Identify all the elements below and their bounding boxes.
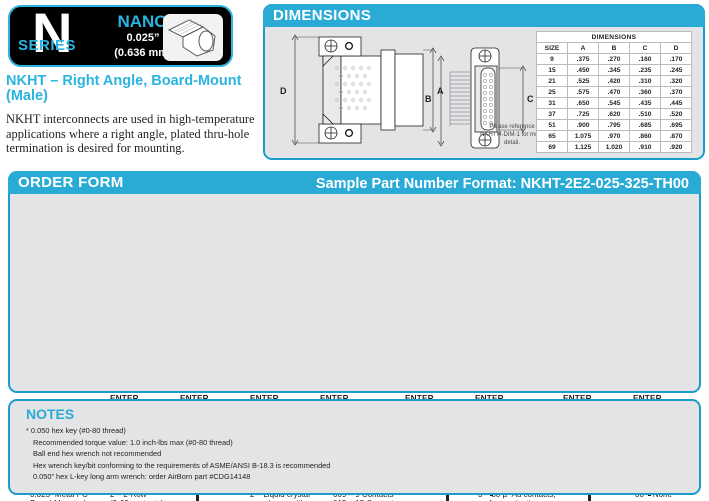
notes-list: * 0.050 hex key (#0-80 thread)Recommende… <box>26 425 330 483</box>
col-c: C <box>630 43 661 54</box>
table-row: 9.375.270.160.170 <box>537 54 692 65</box>
table-cell: .970 <box>599 131 630 142</box>
note-item: 0.050” hex L-key long arm wrench: order … <box>26 471 330 483</box>
table-cell: .525 <box>568 76 599 87</box>
table-cell: .470 <box>599 87 630 98</box>
table-cell: .445 <box>661 98 692 109</box>
table-cell: .620 <box>599 109 630 120</box>
table-row: 31.650.545.435.445 <box>537 98 692 109</box>
table-row: 21.525.420.310.320 <box>537 76 692 87</box>
order-form-panel: ORDER FORM Sample Part Number Format: NK… <box>8 171 701 393</box>
datasheet-page: N SERIES NANO 0.025” (0.636 mm) NKHT – R… <box>0 0 709 501</box>
table-cell: 25 <box>537 87 568 98</box>
product-badge: N SERIES NANO 0.025” (0.636 mm) <box>8 5 233 67</box>
table-cell: 37 <box>537 109 568 120</box>
nano-n-letter: N <box>32 5 70 64</box>
table-cell: .545 <box>599 98 630 109</box>
table-cell: 69 <box>537 142 568 153</box>
notes-heading: NOTES <box>26 406 74 422</box>
dim-label-b: B <box>425 94 432 104</box>
note-item: Ball end hex wrench not recommended <box>26 448 330 460</box>
table-cell: .870 <box>661 131 692 142</box>
table-cell: .860 <box>630 131 661 142</box>
product-description: NKHT interconnects are used in high-temp… <box>6 112 258 156</box>
table-row: 25.575.470.360.370 <box>537 87 692 98</box>
dimensions-table-header-row: SIZE A B C D <box>537 43 692 54</box>
table-cell: 1.125 <box>568 142 599 153</box>
table-cell: .510 <box>630 109 661 120</box>
table-cell: 51 <box>537 120 568 131</box>
table-cell: .320 <box>661 76 692 87</box>
page-title: NKHT – Right Angle, Board-Mount (Male) <box>6 74 256 104</box>
table-cell: 65 <box>537 131 568 142</box>
dim-label-a: A <box>437 86 444 96</box>
table-row: 37.725.620.510.520 <box>537 109 692 120</box>
notes-panel: NOTES * 0.050 hex key (#0-80 thread)Reco… <box>8 399 701 495</box>
table-cell: 9 <box>537 54 568 65</box>
table-cell: .375 <box>568 54 599 65</box>
table-cell: .650 <box>568 98 599 109</box>
table-cell: .725 <box>568 109 599 120</box>
table-cell: .270 <box>599 54 630 65</box>
table-cell: .170 <box>661 54 692 65</box>
dim-label-d: D <box>280 86 287 96</box>
col-d: D <box>661 43 692 54</box>
table-cell: .900 <box>568 120 599 131</box>
table-cell: .360 <box>630 87 661 98</box>
dimensions-heading: DIMENSIONS <box>263 4 705 27</box>
table-cell: 15 <box>537 65 568 76</box>
col-b: B <box>599 43 630 54</box>
table-row: 15.450.345.235.245 <box>537 65 692 76</box>
dimensions-table-title: DIMENSIONS <box>537 32 692 43</box>
note-item: Hex wrench key/bit conforming to the req… <box>26 460 330 472</box>
table-cell: 1.020 <box>599 142 630 153</box>
table-cell: .160 <box>630 54 661 65</box>
col-size: SIZE <box>537 43 568 54</box>
dim-label-c: C <box>527 94 534 104</box>
table-cell: .520 <box>661 109 692 120</box>
order-form-body: NKHT ENTERCODEENTERCODEENTERCODEENTERCOD… <box>10 196 699 395</box>
table-row: 691.1251.020.910.920 <box>537 142 692 153</box>
table-cell: .310 <box>630 76 661 87</box>
dimensions-table: DIMENSIONS SIZE A B C D 9.375.270.160.17… <box>536 31 692 153</box>
table-cell: .345 <box>599 65 630 76</box>
table-cell: .910 <box>630 142 661 153</box>
table-cell: .245 <box>661 65 692 76</box>
table-cell: .575 <box>568 87 599 98</box>
table-cell: .420 <box>599 76 630 87</box>
dimensions-panel: DIMENSIONS <box>263 4 705 160</box>
table-cell: 31 <box>537 98 568 109</box>
table-cell: .435 <box>630 98 661 109</box>
table-cell: 1.075 <box>568 131 599 142</box>
table-cell: .695 <box>661 120 692 131</box>
table-cell: .920 <box>661 142 692 153</box>
sample-part-number: Sample Part Number Format: NKHT-2E2-025-… <box>316 176 689 192</box>
table-cell: .795 <box>599 120 630 131</box>
table-cell: .450 <box>568 65 599 76</box>
table-row: 651.075.970.860.870 <box>537 131 692 142</box>
note-item: Recommended torque value: 1.0 inch-lbs m… <box>26 437 330 449</box>
table-cell: .685 <box>630 120 661 131</box>
connector-illustration-icon <box>163 14 223 61</box>
table-cell: .235 <box>630 65 661 76</box>
col-a: A <box>568 43 599 54</box>
series-label: SERIES <box>18 37 76 54</box>
table-cell: .370 <box>661 87 692 98</box>
table-cell: 21 <box>537 76 568 87</box>
table-row: 51.900.795.685.695 <box>537 120 692 131</box>
note-item: * 0.050 hex key (#0-80 thread) <box>26 425 330 437</box>
